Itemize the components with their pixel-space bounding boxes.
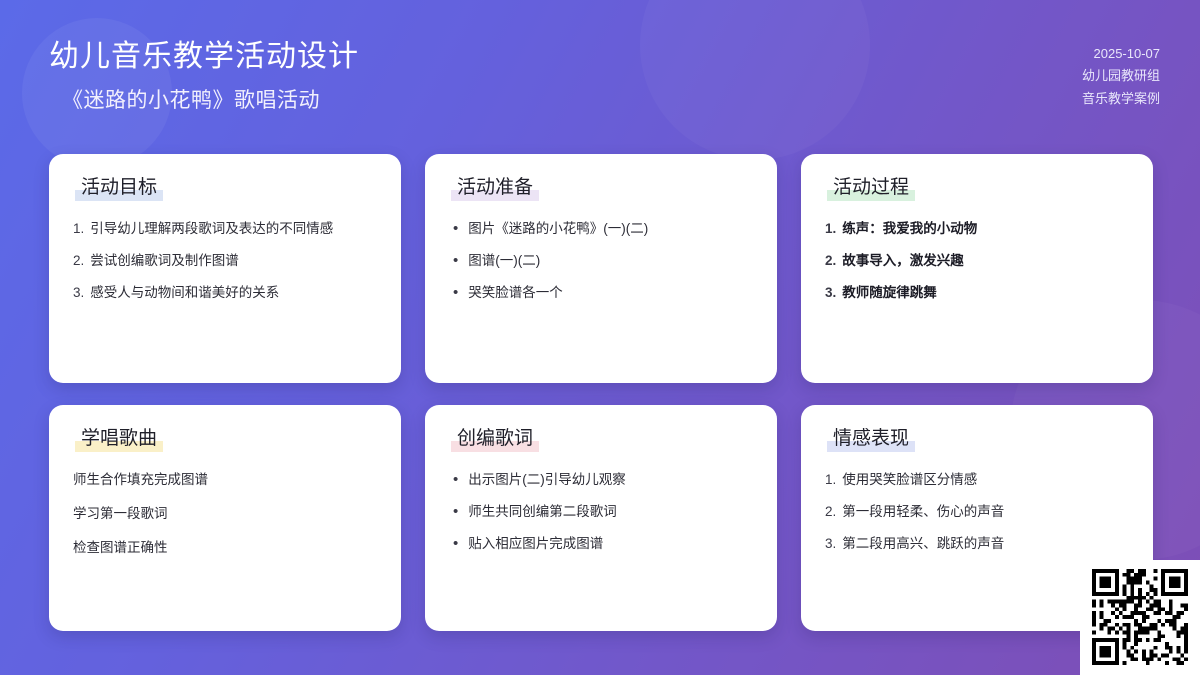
content-card: 活动准备•图片《迷路的小花鸭》(一)(二)•图谱(一)(二)•哭笑脸谱各一个 — [425, 154, 777, 383]
list-item-text: 学习第一段歌词 — [73, 504, 168, 524]
content-card-grid: 活动目标1.引导幼儿理解两段歌词及表达的不同情感2.尝试创编歌词及制作图谱3.感… — [49, 154, 1153, 631]
content-card: 创编歌词•出示图片(二)引导幼儿观察•师生共同创编第二段歌词•贴入相应图片完成图… — [425, 405, 777, 631]
list-item: •贴入相应图片完成图谱 — [449, 534, 753, 554]
list-item-marker: 1. — [73, 219, 84, 239]
list-item: 2.尝试创编歌词及制作图谱 — [73, 251, 377, 271]
list-item: 3.感受人与动物间和谐美好的关系 — [73, 283, 377, 303]
slide-header: 幼儿音乐教学活动设计 《迷路的小花鸭》歌唱活动 2025-10-07 幼儿园教研… — [0, 0, 1200, 150]
content-card: 活动目标1.引导幼儿理解两段歌词及表达的不同情感2.尝试创编歌词及制作图谱3.感… — [49, 154, 401, 383]
list-item-text: 检查图谱正确性 — [73, 538, 168, 558]
meta-date: 2025-10-07 — [1082, 43, 1160, 65]
card-title: 活动目标 — [75, 176, 163, 201]
list-item-text: 练声：我爱我的小动物 — [842, 219, 977, 239]
list-item: •出示图片(二)引导幼儿观察 — [449, 470, 753, 490]
list-item: 学习第一段歌词 — [73, 504, 377, 524]
list-item-marker: 1. — [825, 470, 836, 490]
card-item-list: •出示图片(二)引导幼儿观察•师生共同创编第二段歌词•贴入相应图片完成图谱 — [449, 470, 753, 555]
card-item-list: 师生合作填充完成图谱学习第一段歌词检查图谱正确性 — [73, 470, 377, 559]
card-item-list: 1.使用哭笑脸谱区分情感2.第一段用轻柔、伤心的声音3.第二段用高兴、跳跃的声音 — [825, 470, 1129, 555]
content-card: 活动过程1.练声：我爱我的小动物2.故事导入，激发兴趣3.教师随旋律跳舞 — [801, 154, 1153, 383]
list-item-marker: • — [453, 502, 458, 522]
list-item-text: 贴入相应图片完成图谱 — [468, 534, 603, 554]
list-item-marker: 2. — [825, 502, 836, 522]
list-item-marker: • — [453, 251, 458, 271]
card-title: 活动准备 — [451, 176, 539, 201]
content-card: 学唱歌曲师生合作填充完成图谱学习第一段歌词检查图谱正确性 — [49, 405, 401, 631]
qr-code[interactable] — [1080, 560, 1200, 675]
list-item-text: 图片《迷路的小花鸭》(一)(二) — [468, 219, 648, 239]
meta-category: 音乐教学案例 — [1082, 88, 1160, 110]
header-meta-group: 2025-10-07 幼儿园教研组 音乐教学案例 — [1082, 43, 1160, 110]
page-subtitle: 《迷路的小花鸭》歌唱活动 — [62, 84, 359, 114]
list-item-text: 出示图片(二)引导幼儿观察 — [468, 470, 626, 490]
list-item: 1.练声：我爱我的小动物 — [825, 219, 1129, 239]
list-item: 检查图谱正确性 — [73, 538, 377, 558]
page-title: 幼儿音乐教学活动设计 — [49, 38, 359, 76]
list-item-marker: • — [453, 470, 458, 490]
list-item-marker: • — [453, 283, 458, 303]
list-item-text: 引导幼儿理解两段歌词及表达的不同情感 — [90, 219, 333, 239]
card-title: 学唱歌曲 — [75, 427, 163, 452]
list-item: 师生合作填充完成图谱 — [73, 470, 377, 490]
list-item: •图谱(一)(二) — [449, 251, 753, 271]
qr-code-icon — [1092, 569, 1188, 665]
card-title: 活动过程 — [827, 176, 915, 201]
list-item-text: 师生合作填充完成图谱 — [73, 470, 208, 490]
list-item: 2.故事导入，激发兴趣 — [825, 251, 1129, 271]
list-item: 3.教师随旋律跳舞 — [825, 283, 1129, 303]
list-item-marker: 3. — [825, 283, 836, 303]
card-item-list: 1.练声：我爱我的小动物2.故事导入，激发兴趣3.教师随旋律跳舞 — [825, 219, 1129, 304]
list-item-text: 教师随旋律跳舞 — [842, 283, 937, 303]
list-item: •图片《迷路的小花鸭》(一)(二) — [449, 219, 753, 239]
list-item: 2.第一段用轻柔、伤心的声音 — [825, 502, 1129, 522]
list-item-marker: 2. — [73, 251, 84, 271]
header-title-group: 幼儿音乐教学活动设计 《迷路的小花鸭》歌唱活动 — [49, 38, 359, 114]
list-item-text: 感受人与动物间和谐美好的关系 — [90, 283, 279, 303]
list-item: •师生共同创编第二段歌词 — [449, 502, 753, 522]
list-item-text: 师生共同创编第二段歌词 — [468, 502, 617, 522]
list-item-text: 尝试创编歌词及制作图谱 — [90, 251, 239, 271]
list-item-marker: • — [453, 534, 458, 554]
list-item-marker: 3. — [73, 283, 84, 303]
list-item: •哭笑脸谱各一个 — [449, 283, 753, 303]
list-item-marker: 2. — [825, 251, 836, 271]
list-item: 1.引导幼儿理解两段歌词及表达的不同情感 — [73, 219, 377, 239]
card-title: 创编歌词 — [451, 427, 539, 452]
list-item: 1.使用哭笑脸谱区分情感 — [825, 470, 1129, 490]
list-item-text: 故事导入，激发兴趣 — [842, 251, 964, 271]
list-item-text: 哭笑脸谱各一个 — [468, 283, 563, 303]
list-item-marker: • — [453, 219, 458, 239]
card-item-list: 1.引导幼儿理解两段歌词及表达的不同情感2.尝试创编歌词及制作图谱3.感受人与动… — [73, 219, 377, 304]
list-item-text: 使用哭笑脸谱区分情感 — [842, 470, 977, 490]
list-item-text: 图谱(一)(二) — [468, 251, 540, 271]
list-item-text: 第一段用轻柔、伤心的声音 — [842, 502, 1004, 522]
meta-org: 幼儿园教研组 — [1082, 65, 1160, 87]
card-title: 情感表现 — [827, 427, 915, 452]
list-item-text: 第二段用高兴、跳跃的声音 — [842, 534, 1004, 554]
list-item-marker: 1. — [825, 219, 836, 239]
list-item-marker: 3. — [825, 534, 836, 554]
card-item-list: •图片《迷路的小花鸭》(一)(二)•图谱(一)(二)•哭笑脸谱各一个 — [449, 219, 753, 304]
list-item: 3.第二段用高兴、跳跃的声音 — [825, 534, 1129, 554]
